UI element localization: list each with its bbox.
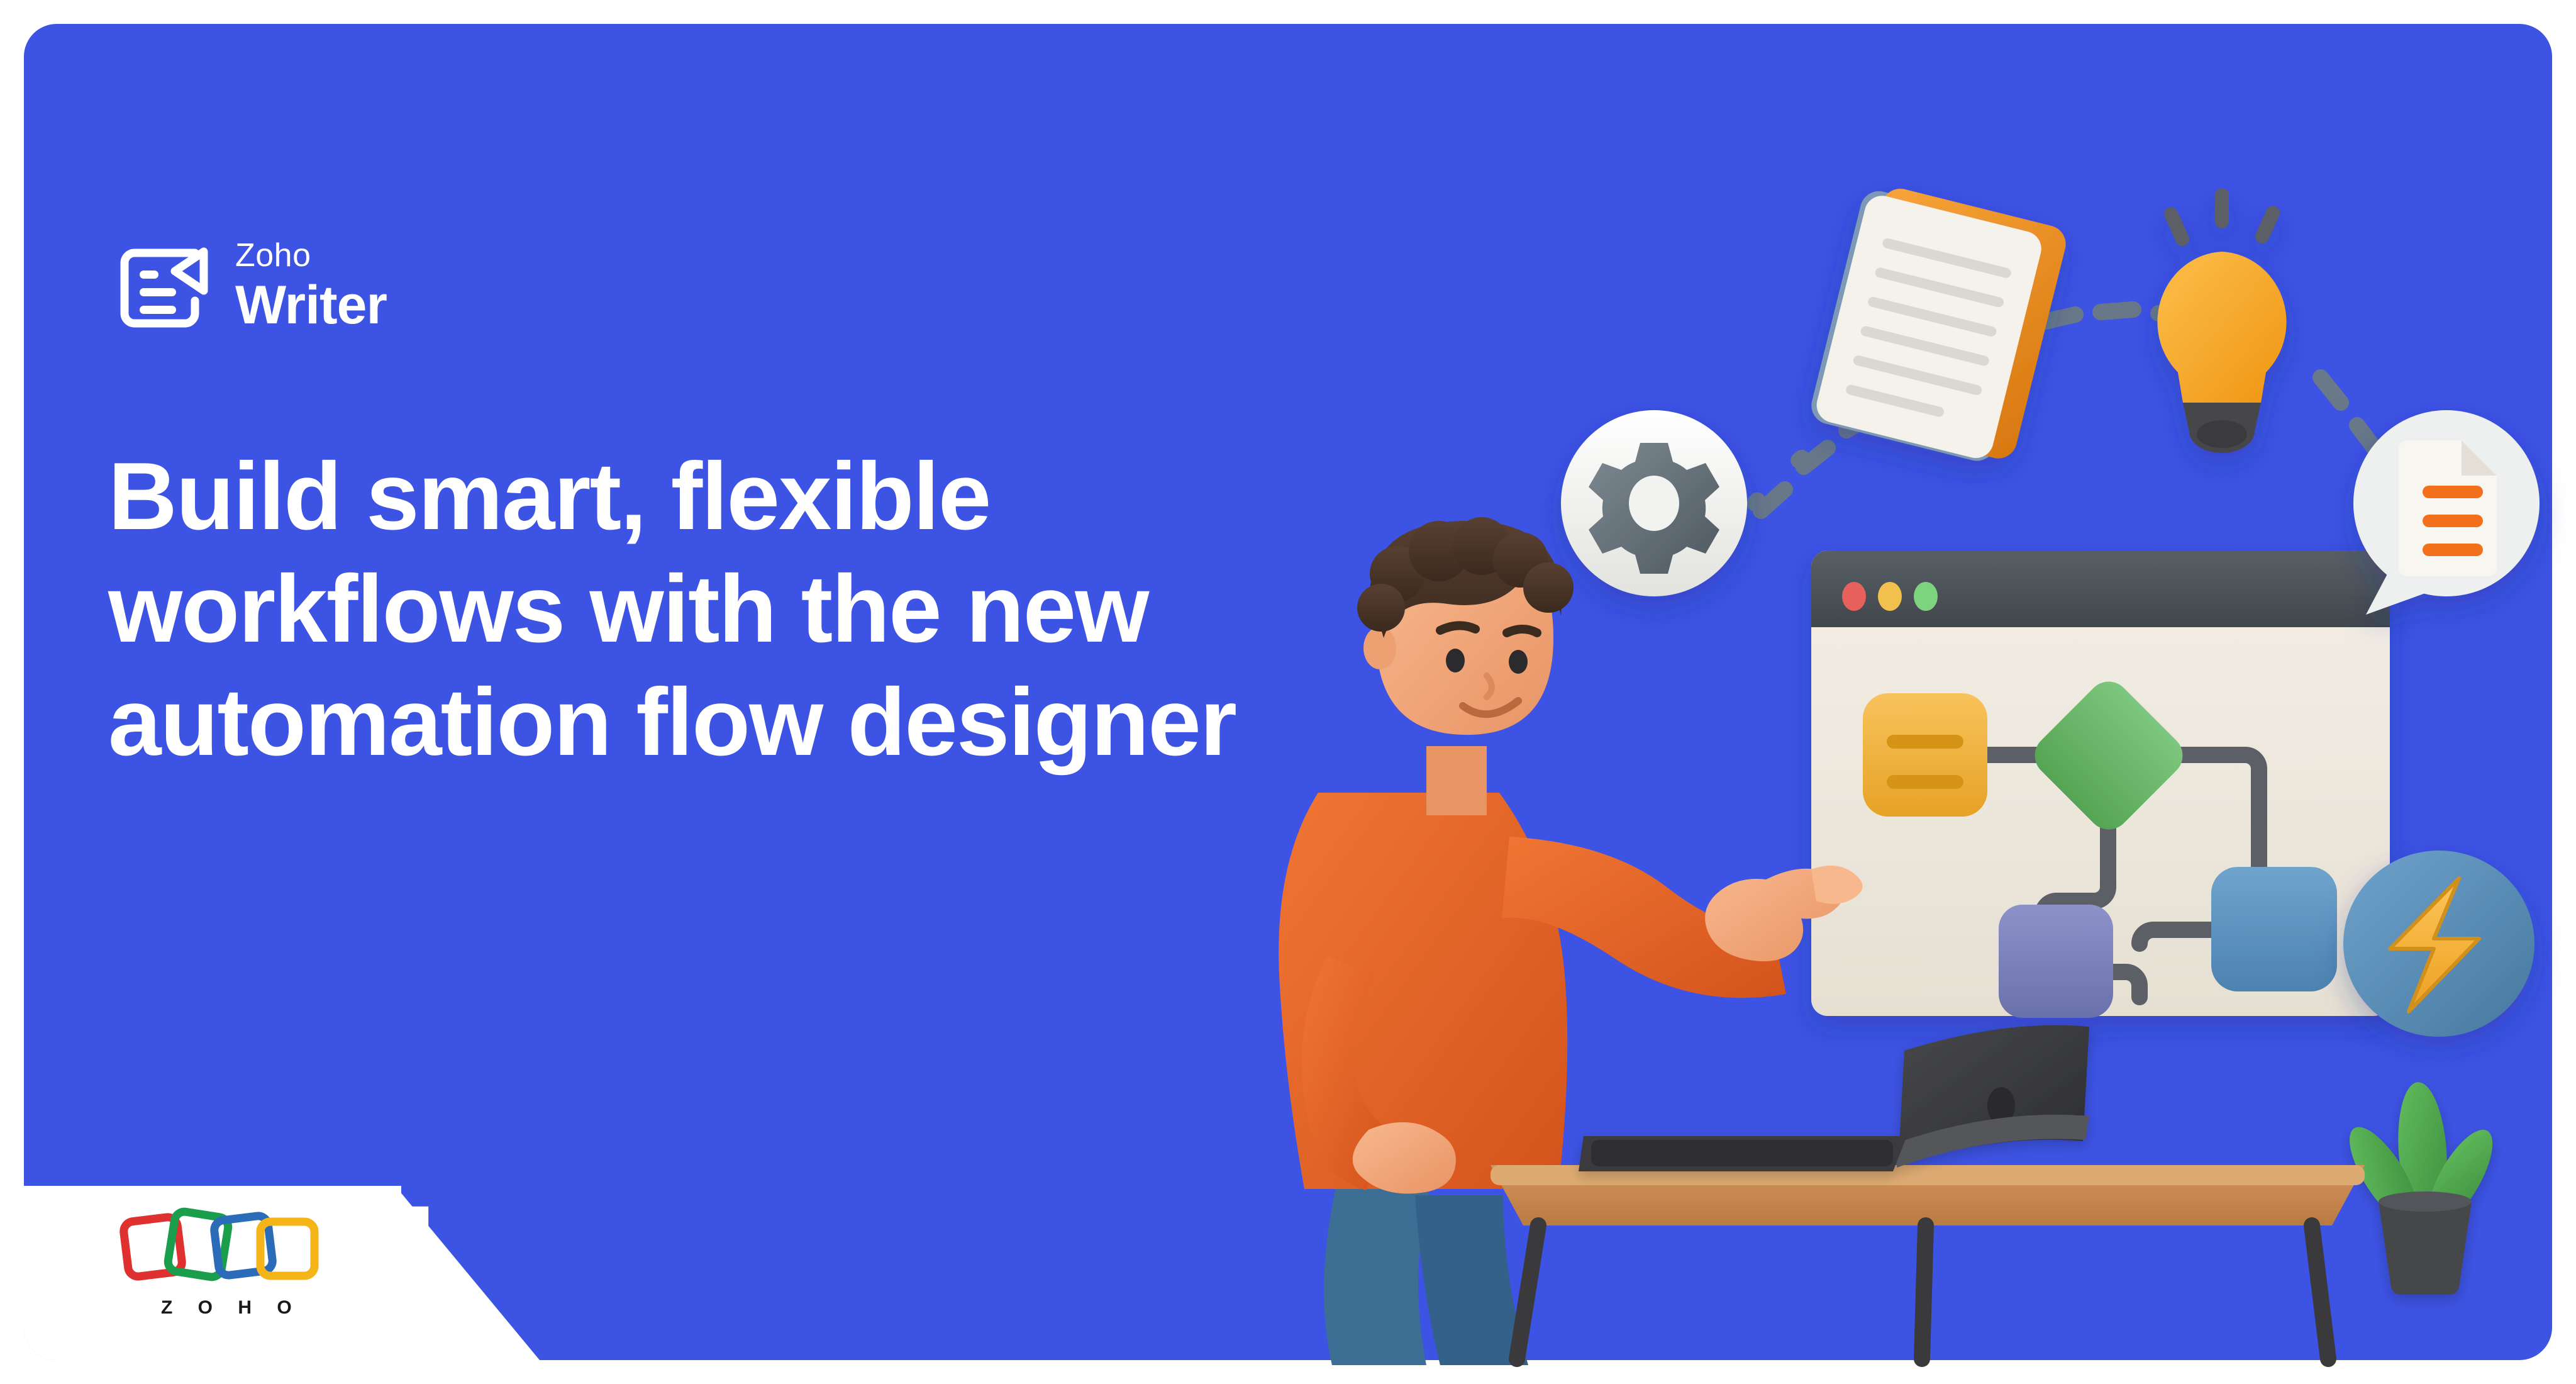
headline-line-1: Build smart, flexible [108,440,1460,553]
zoho-writer-document-icon [108,233,214,338]
zoho-tiles-icon [117,1202,362,1290]
headline-line-2: workflows with the new [108,553,1460,666]
zoho-corporate-logo: Z O H O [117,1202,362,1319]
logo-brand-text: Zoho [235,239,387,272]
headline-line-3: automation flow designer [108,666,1460,779]
logo-product-text: Writer [235,278,387,332]
zoho-writer-logo: Zoho Writer [108,233,387,338]
page-title: Build smart, flexible workflows with the… [108,440,1460,779]
marketing-banner: Zoho Writer Build smart, flexible workfl… [0,0,2576,1384]
zoho-wordmark: Z O H O [161,1297,362,1319]
